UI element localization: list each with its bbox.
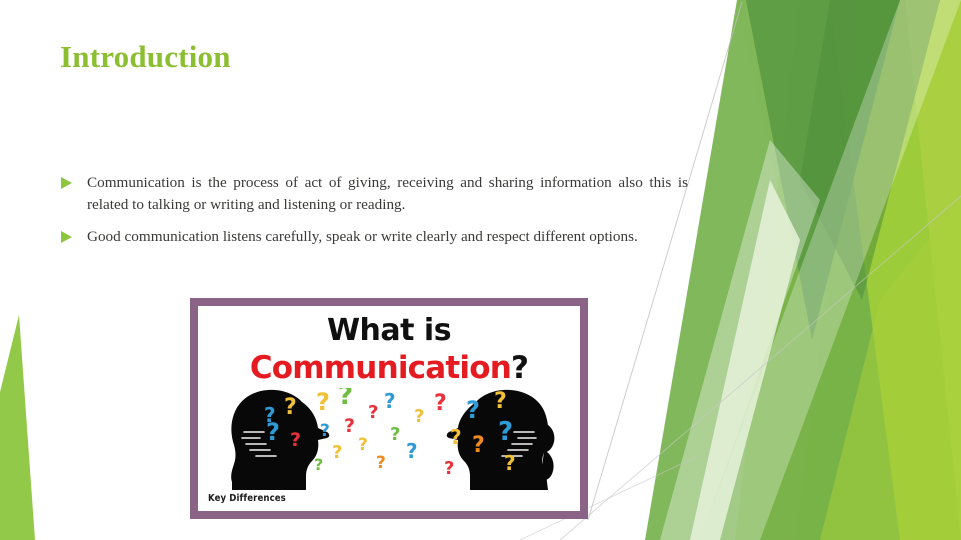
svg-text:?: ? bbox=[498, 417, 513, 447]
bullet-text: Communication is the process of act of g… bbox=[87, 172, 688, 216]
svg-text:?: ? bbox=[316, 388, 330, 416]
svg-text:?: ? bbox=[344, 415, 355, 437]
svg-text:?: ? bbox=[472, 433, 485, 458]
deco-lime-band bbox=[796, 0, 961, 540]
deco-dark-green-triangle-2 bbox=[800, 0, 940, 300]
bullet-triangle-icon bbox=[60, 176, 74, 191]
svg-text:?: ? bbox=[390, 424, 400, 445]
svg-text:?: ? bbox=[466, 396, 480, 424]
svg-text:?: ? bbox=[444, 458, 454, 479]
embedded-image-frame: What is Communication? bbox=[190, 298, 588, 519]
image-heading-question-mark: ? bbox=[511, 350, 528, 386]
svg-text:?: ? bbox=[414, 406, 424, 427]
svg-text:?: ? bbox=[450, 425, 462, 449]
two-heads-question-marks-illustration: ? ? ? ? ? ? ? ? ? ? ? ? ? ? ? ? ? bbox=[198, 388, 580, 490]
deco-lime-overlay bbox=[820, 200, 961, 540]
image-credit-watermark: Key Differences bbox=[208, 493, 286, 505]
image-heading-line1: What is bbox=[198, 314, 580, 348]
deco-mid-green-band bbox=[645, 0, 900, 540]
presentation-slide: Introduction Communication is the proces… bbox=[0, 0, 961, 540]
svg-text:?: ? bbox=[266, 418, 280, 446]
svg-text:?: ? bbox=[504, 451, 516, 475]
slide-body-content: Communication is the process of act of g… bbox=[60, 172, 688, 258]
deco-hairline-1 bbox=[588, 2, 742, 520]
svg-text:?: ? bbox=[384, 389, 396, 413]
svg-text:?: ? bbox=[434, 391, 447, 416]
deco-light-green-band bbox=[735, 0, 961, 540]
deco-dark-green-triangle bbox=[746, 0, 900, 340]
bullet-item: Communication is the process of act of g… bbox=[60, 172, 688, 216]
image-heading-word: Communication bbox=[250, 350, 511, 386]
svg-text:?: ? bbox=[358, 435, 368, 455]
bullet-text: Good communication listens carefully, sp… bbox=[87, 226, 688, 248]
slide-title: Introduction bbox=[60, 38, 231, 76]
svg-text:?: ? bbox=[290, 429, 301, 451]
svg-text:?: ? bbox=[338, 388, 353, 411]
deco-pale-shard bbox=[690, 180, 800, 540]
image-heading-line2: Communication? bbox=[198, 350, 580, 386]
svg-text:?: ? bbox=[368, 402, 378, 423]
svg-text:?: ? bbox=[320, 421, 330, 441]
embedded-image: What is Communication? bbox=[198, 306, 580, 511]
svg-text:?: ? bbox=[406, 439, 418, 463]
svg-text:?: ? bbox=[332, 442, 342, 463]
bullet-triangle-icon bbox=[60, 230, 74, 245]
bullet-item: Good communication listens carefully, sp… bbox=[60, 226, 688, 248]
deco-pale-wedge bbox=[700, 0, 961, 540]
svg-text:?: ? bbox=[494, 389, 507, 414]
svg-text:?: ? bbox=[284, 395, 297, 420]
deco-bottom-left-spike bbox=[0, 315, 35, 540]
svg-text:?: ? bbox=[376, 453, 386, 473]
svg-text:?: ? bbox=[314, 455, 323, 474]
left-head-silhouette bbox=[231, 390, 329, 490]
deco-pale-sliver bbox=[700, 0, 961, 540]
